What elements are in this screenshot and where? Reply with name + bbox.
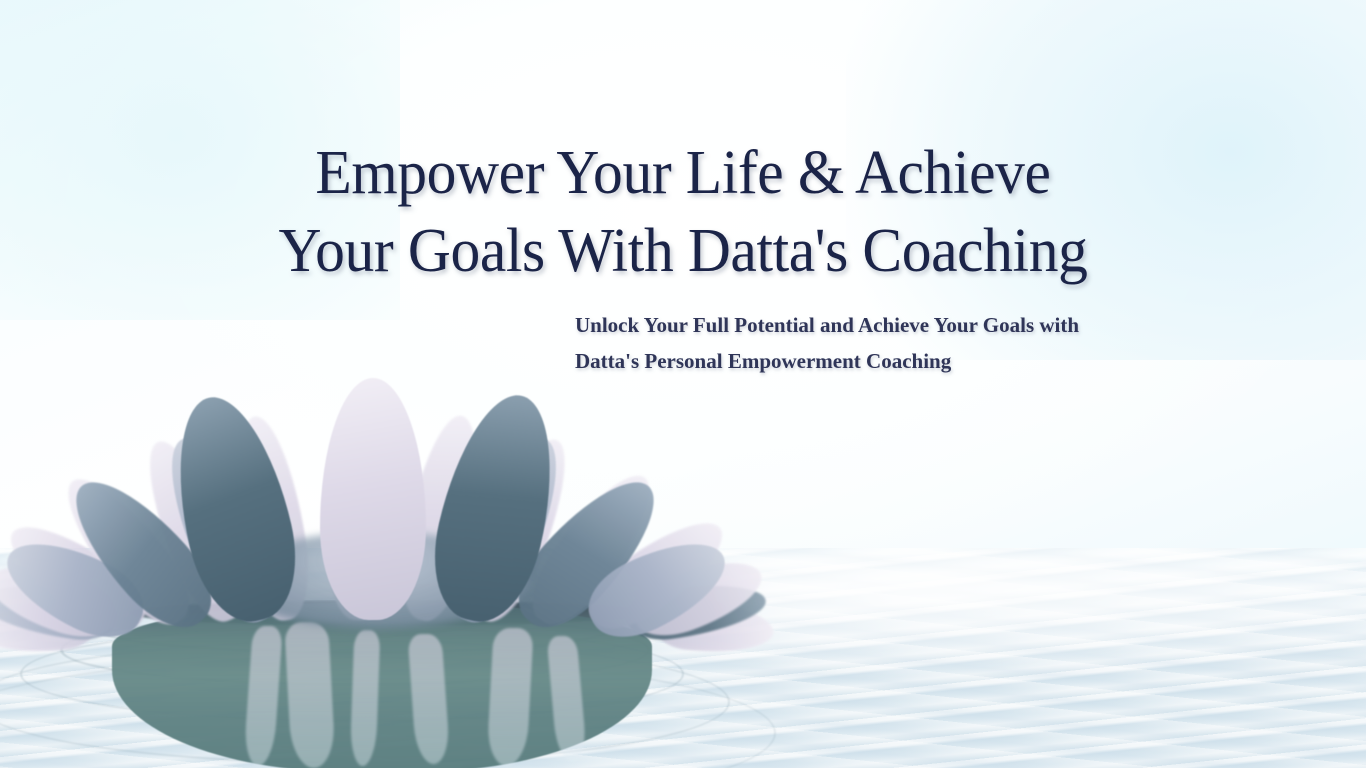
headline-line-1: Empower Your Life & Achieve [27,134,1338,212]
lotus-flower-image [78,352,688,620]
subtitle-line-2: Datta's Personal Empowerment Coaching [575,343,1235,379]
hero-banner: Empower Your Life & Achieve Your Goals W… [0,0,1366,768]
page-subtitle: Unlock Your Full Potential and Achieve Y… [575,307,1235,379]
headline-line-2: Your Goals With Datta's Coaching [27,212,1338,290]
page-title: Empower Your Life & Achieve Your Goals W… [27,134,1338,290]
front-center [320,378,426,620]
subtitle-line-1: Unlock Your Full Potential and Achieve Y… [575,307,1235,343]
